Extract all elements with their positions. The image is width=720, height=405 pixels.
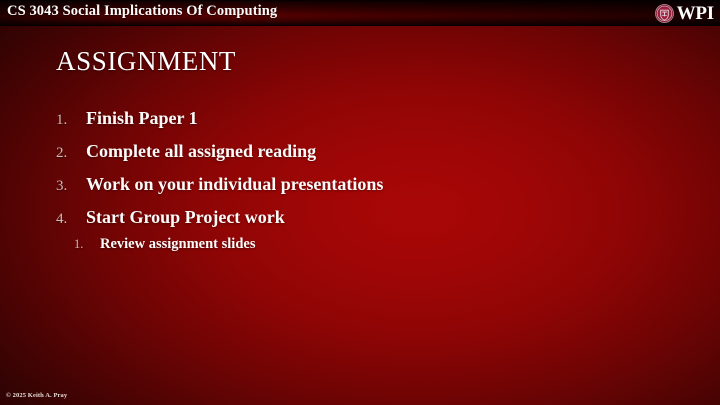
presentation-slide: CS 3043 Social Implications Of Computing… [0,0,720,405]
list-item-label: Complete all assigned reading [86,141,316,162]
list-item: 2. Complete all assigned reading [56,141,656,162]
wpi-seal-icon [655,4,674,23]
list-item-label: Finish Paper 1 [86,108,198,129]
slide-title: ASSIGNMENT [56,46,236,77]
copyright-footer: © 2025 Keith A. Pray [6,392,67,399]
list-item-number: 2. [56,145,86,162]
assignment-list: 1. Finish Paper 1 2. Complete all assign… [56,108,656,253]
assignment-sublist: 1. Review assignment slides [74,236,656,253]
course-title: CS 3043 Social Implications Of Computing [7,3,277,20]
list-item-number: 1. [56,112,86,129]
list-item-label: Work on your individual presentations [86,174,383,195]
list-item: 1. Finish Paper 1 [56,108,656,129]
list-item: 4. Start Group Project work [56,207,656,228]
list-item-label: Start Group Project work [86,207,285,228]
wpi-wordmark: WPI [677,4,714,23]
sub-list-item-number: 1. [74,237,100,252]
wpi-logo: WPI [655,1,714,25]
slide-header-bar: CS 3043 Social Implications Of Computing… [0,0,720,26]
list-item-number: 3. [56,178,86,195]
list-item: 3. Work on your individual presentations [56,174,656,195]
list-item-number: 4. [56,211,86,228]
sub-list-item-label: Review assignment slides [100,236,255,253]
sub-list-item: 1. Review assignment slides [74,236,656,253]
